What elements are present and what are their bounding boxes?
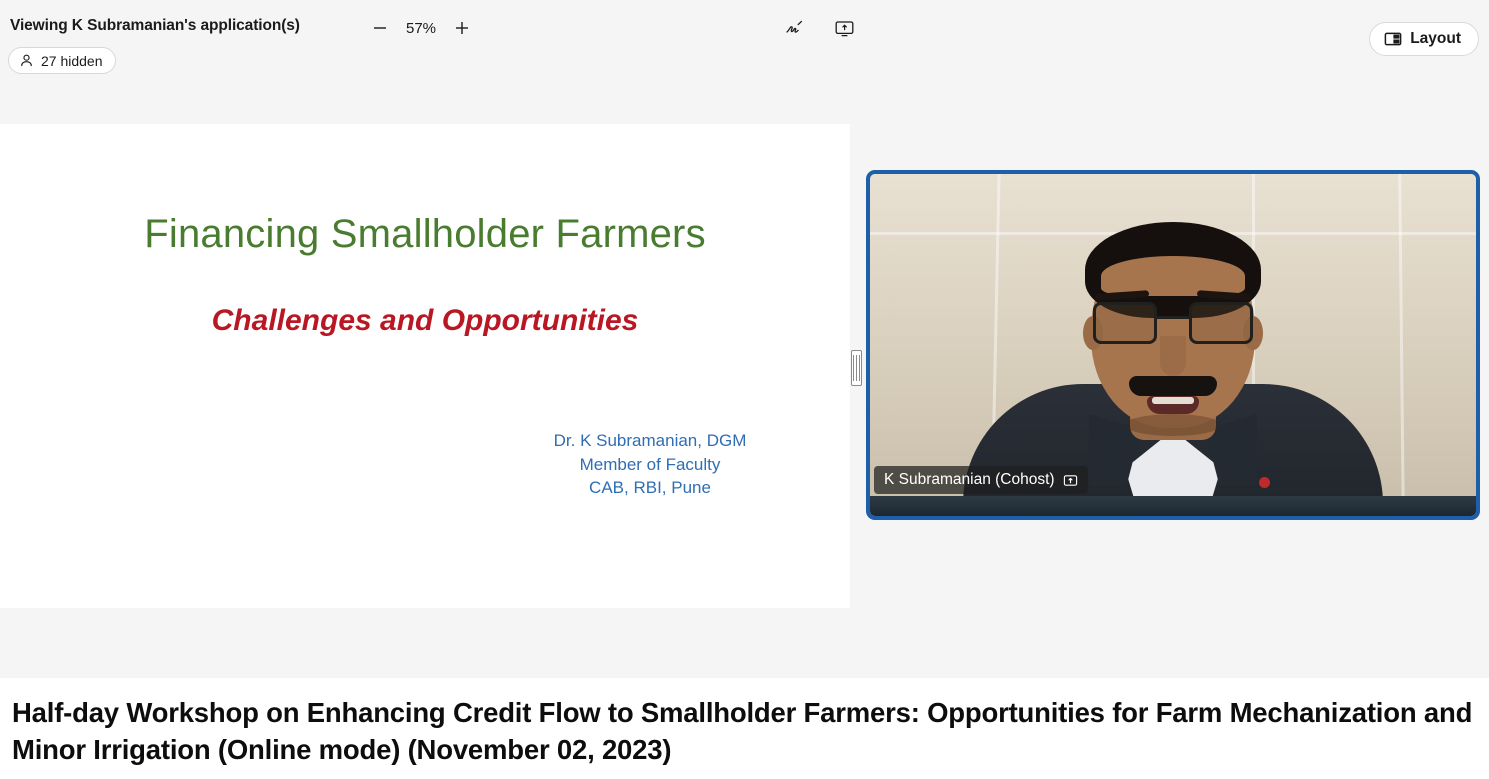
glasses-lens-left bbox=[1093, 302, 1157, 344]
screen-share-button[interactable] bbox=[830, 14, 858, 42]
lapel-pin-icon bbox=[1259, 477, 1270, 488]
annotate-pen-icon bbox=[784, 18, 804, 38]
presenter-org-line: CAB, RBI, Pune bbox=[270, 476, 850, 500]
hidden-participants-label: 27 hidden bbox=[41, 53, 103, 69]
shared-screen-slide[interactable]: Financing Smallholder Farmers Challenges… bbox=[0, 124, 850, 608]
hidden-participants-badge[interactable]: 27 hidden bbox=[8, 47, 116, 74]
presenter-name-line: Dr. K Subramanian, DGM bbox=[270, 429, 850, 453]
person-teeth bbox=[1152, 397, 1194, 404]
glasses-bridge bbox=[1157, 316, 1189, 319]
participant-name-label: K Subramanian (Cohost) bbox=[874, 466, 1088, 494]
participant-video-tile[interactable]: K Subramanian (Cohost) bbox=[866, 170, 1480, 520]
pane-resize-handle[interactable] bbox=[850, 124, 864, 678]
person-nose bbox=[1160, 336, 1186, 376]
person-chin-shadow bbox=[1125, 414, 1221, 436]
presenter-role-line: Member of Faculty bbox=[270, 453, 850, 477]
slide-title: Financing Smallholder Farmers bbox=[0, 212, 850, 257]
grip-line bbox=[859, 355, 860, 381]
zoom-controls: 57% bbox=[368, 14, 474, 42]
grip-line bbox=[856, 355, 857, 381]
meeting-screen-share-view: Viewing K Subramanian's application(s) 5… bbox=[0, 0, 1489, 779]
video-foreground-shadow bbox=[870, 496, 1476, 516]
glasses-lens-right bbox=[1189, 302, 1253, 344]
video-stream: K Subramanian (Cohost) bbox=[870, 174, 1476, 516]
top-bar-tools bbox=[780, 14, 858, 42]
person-icon bbox=[19, 53, 34, 68]
layout-button-label: Layout bbox=[1410, 30, 1461, 48]
plus-icon bbox=[454, 20, 470, 36]
pane-resize-grip[interactable] bbox=[851, 350, 862, 386]
zoom-out-button[interactable] bbox=[368, 16, 392, 40]
zoom-level: 57% bbox=[403, 20, 439, 37]
pin-video-icon[interactable] bbox=[1063, 473, 1078, 488]
slide-presenter-block: Dr. K Subramanian, DGM Member of Faculty… bbox=[270, 429, 850, 500]
annotate-button[interactable] bbox=[780, 14, 808, 42]
workshop-caption: Half-day Workshop on Enhancing Credit Fl… bbox=[12, 694, 1478, 768]
top-bar: Viewing K Subramanian's application(s) 5… bbox=[0, 0, 1489, 124]
participant-name-text: K Subramanian (Cohost) bbox=[884, 471, 1055, 489]
grip-line bbox=[853, 355, 854, 381]
person-mustache bbox=[1129, 376, 1217, 396]
minus-icon bbox=[372, 20, 388, 36]
caption-band: Half-day Workshop on Enhancing Credit Fl… bbox=[0, 678, 1489, 779]
zoom-in-button[interactable] bbox=[450, 16, 474, 40]
layout-split-icon bbox=[1384, 30, 1402, 48]
viewing-title: Viewing K Subramanian's application(s) bbox=[10, 17, 300, 35]
layout-button[interactable]: Layout bbox=[1369, 22, 1479, 56]
screen-share-icon bbox=[834, 18, 855, 39]
slide-subtitle: Challenges and Opportunities bbox=[0, 304, 850, 338]
